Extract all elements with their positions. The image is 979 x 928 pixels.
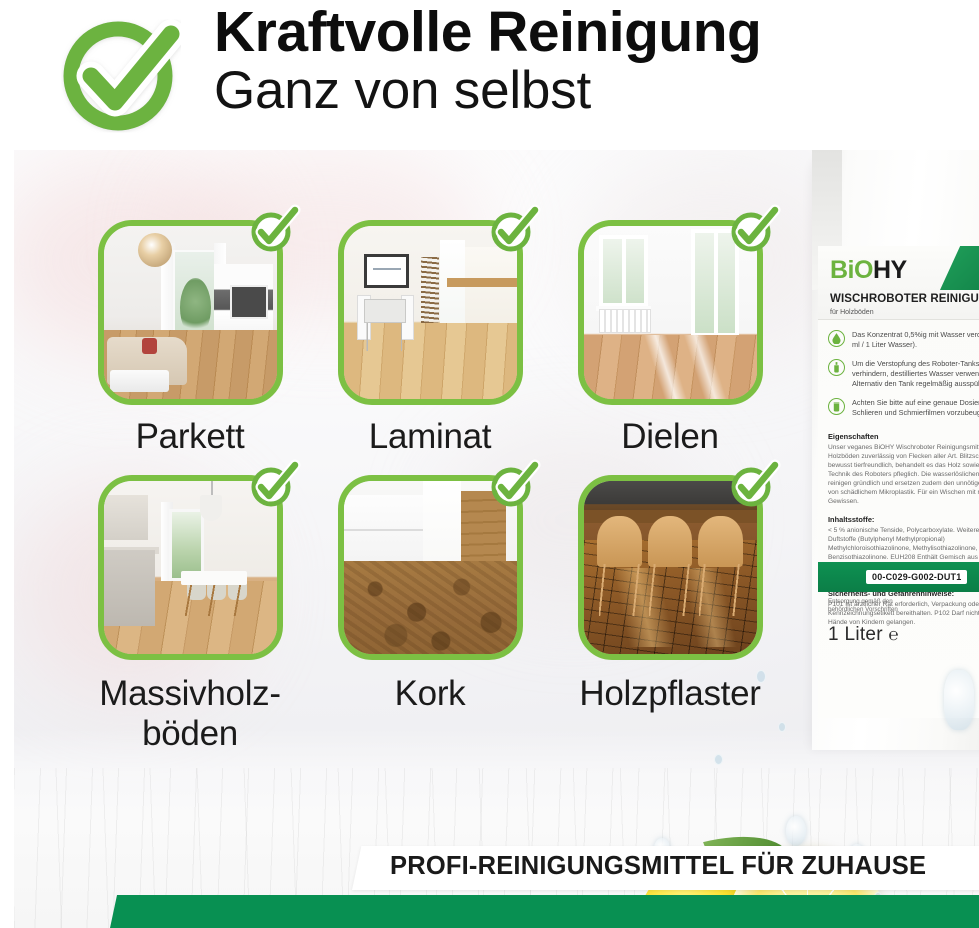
water-drop-icon: [778, 722, 786, 732]
section-heading: Eigenschaften: [828, 432, 979, 441]
water-splash-icon: [944, 670, 974, 730]
product-code: 00-C029-G002-DUT1: [866, 570, 967, 584]
bottle-icon: [828, 359, 845, 376]
page-title: Kraftvolle Reinigung Ganz von selbst: [214, 2, 834, 120]
droplet-icon: [828, 330, 845, 347]
check-circle-icon: [245, 202, 301, 258]
water-drop-icon: [756, 670, 766, 683]
beaker-icon: [828, 398, 845, 415]
floor-type-label: Laminat: [310, 417, 550, 457]
floor-type-card-laminat[interactable]: Laminat: [310, 220, 550, 457]
check-circle-icon: [485, 457, 541, 513]
check-circle-icon: [725, 457, 781, 513]
product-name: WISCHROBOTER REINIGUNGSMITTEL: [830, 293, 979, 305]
floor-type-card-parkett[interactable]: Parkett: [70, 220, 310, 457]
bottle-label: BiOHY WISCHROBOTER REINIGUNGSMITTEL für …: [818, 246, 979, 718]
label-section-eigenschaften: Eigenschaften Unser veganes BiOHY Wischr…: [828, 432, 979, 506]
floor-type-card-kork[interactable]: Kork: [310, 475, 550, 754]
check-circle-icon: [725, 202, 781, 258]
check-circle-icon: [485, 202, 541, 258]
floor-type-card-massivholzboeden[interactable]: Massivholz- böden: [70, 475, 310, 754]
product-subtitle: für Holzböden: [830, 309, 874, 316]
section-body: Unser veganes BiOHY Wischroboter Reinigu…: [828, 443, 979, 506]
banner-text: PROFI-REINIGUNGSMITTEL FÜR ZUHAUSE: [390, 852, 979, 881]
product-infographic: Kraftvolle Reinigung Ganz von selbst: [0, 0, 979, 928]
grid-row-2: Massivholz- böden: [70, 475, 790, 754]
brand-hy: HY: [873, 256, 907, 284]
usage-text: Das Konzentrat 0,5%ig mit Wasser verdünn…: [852, 330, 979, 350]
grid-row-1: Parkett: [70, 220, 790, 457]
bottom-banner: PROFI-REINIGUNGSMITTEL FÜR ZUHAUSE: [0, 830, 979, 928]
usage-text: Achten Sie bitte auf eine genaue Dosieru…: [852, 398, 979, 418]
usage-text: Um die Verstopfung des Roboter-Tanks zu …: [852, 359, 979, 389]
usage-item: Achten Sie bitte auf eine genaue Dosieru…: [828, 398, 979, 418]
floor-type-label: Kork: [310, 674, 550, 714]
floor-type-label: Parkett: [70, 417, 310, 457]
product-bottle: BiOHY WISCHROBOTER REINIGUNGSMITTEL für …: [812, 150, 979, 750]
usage-instructions: Das Konzentrat 0,5%ig mit Wasser verdünn…: [828, 330, 979, 427]
title-line-2: Ganz von selbst: [214, 62, 834, 120]
floor-type-card-dielen[interactable]: Dielen: [550, 220, 790, 457]
floor-type-label: Dielen: [550, 417, 790, 457]
header: Kraftvolle Reinigung Ganz von selbst: [0, 0, 979, 146]
disposal-note: Entsorgung gemäß den behördlichen Vorsch…: [828, 598, 898, 614]
usage-item: Das Konzentrat 0,5%ig mit Wasser verdünn…: [828, 330, 979, 350]
usage-item: Um die Verstopfung des Roboter-Tanks zu …: [828, 359, 979, 389]
volume-value: 1 Liter: [828, 624, 883, 645]
volume-label: 1 Liter ℮: [828, 624, 899, 646]
estimated-sign-icon: ℮: [889, 625, 900, 644]
section-heading: Inhaltsstoffe:: [828, 515, 979, 524]
brand-bio: BiO: [830, 256, 873, 284]
banner-green-bar: [110, 895, 979, 928]
product-code-strip: 00-C029-G002-DUT1: [818, 562, 979, 592]
brand-logo: BiOHY: [830, 256, 907, 285]
floor-type-label: Massivholz- böden: [70, 674, 310, 754]
title-line-1: Kraftvolle Reinigung: [214, 2, 834, 62]
check-circle-icon: [245, 457, 301, 513]
floor-type-grid: Parkett: [70, 220, 790, 754]
green-check-circle-icon: [58, 12, 184, 138]
floor-type-card-holzpflaster[interactable]: Holzpflaster: [550, 475, 790, 754]
main-panel: Parkett: [14, 150, 979, 928]
water-drop-icon: [714, 754, 723, 765]
floor-type-label: Holzpflaster: [550, 674, 790, 714]
